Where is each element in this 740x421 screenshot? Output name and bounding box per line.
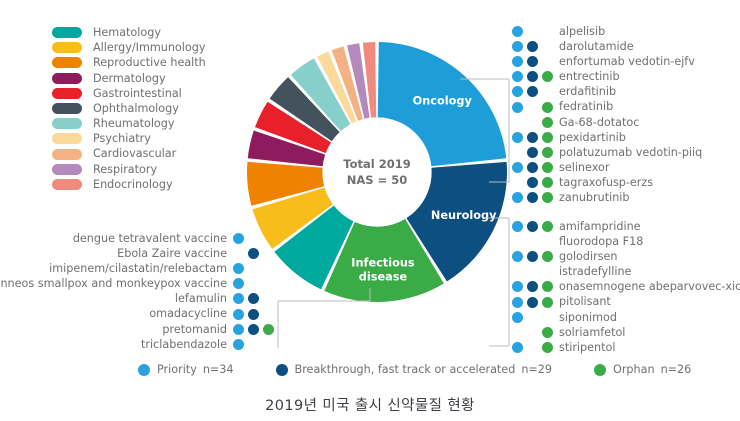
orphan-dot-icon bbox=[540, 145, 555, 160]
priority-dot-icon bbox=[510, 279, 525, 294]
orphan-dot-icon bbox=[540, 100, 555, 115]
drug-row[interactable]: alpelisib bbox=[510, 24, 702, 39]
empty-dot-slot bbox=[525, 100, 540, 115]
orphan-dot-icon bbox=[542, 132, 553, 143]
drug-row[interactable]: pitolisant bbox=[510, 294, 740, 309]
drug-row[interactable]: lefamulin bbox=[26, 291, 276, 306]
drug-row[interactable]: siponimod bbox=[510, 310, 740, 325]
drug-row[interactable]: onasemnogene abeparvovec-xioi bbox=[510, 279, 740, 294]
orphan-dot-icon bbox=[542, 147, 553, 158]
priority-dot-icon bbox=[510, 130, 525, 145]
drug-status-dots bbox=[510, 24, 555, 39]
oncology-drug-list: alpelisibdarolutamideenfortumab vedotin-… bbox=[510, 24, 702, 205]
drug-row[interactable]: pexidartinib bbox=[510, 130, 702, 145]
empty-dot-slot bbox=[510, 145, 525, 160]
priority-dot-icon bbox=[233, 278, 244, 289]
breakthrough-dot-icon bbox=[527, 297, 538, 308]
breakthrough-dot-icon bbox=[527, 192, 538, 203]
drug-status-dots bbox=[231, 307, 276, 322]
drug-name: Ebola Zaire vaccine bbox=[117, 248, 227, 259]
priority-dot-icon bbox=[512, 86, 523, 97]
drug-status-dots bbox=[510, 340, 555, 355]
drug-name: istradefylline bbox=[559, 266, 631, 277]
priority-dot-icon bbox=[233, 324, 244, 335]
priority-dot-icon bbox=[510, 84, 525, 99]
breakthrough-dot-icon bbox=[525, 175, 540, 190]
drug-status-dots bbox=[510, 130, 555, 145]
breakthrough-dot-icon bbox=[527, 41, 538, 52]
breakthrough-dot-icon bbox=[525, 84, 540, 99]
empty-dot-slot bbox=[510, 234, 525, 249]
priority-dot-icon bbox=[231, 322, 246, 337]
empty-dot-slot bbox=[261, 291, 276, 306]
empty-dot-slot bbox=[510, 175, 525, 190]
breakthrough-dot-icon bbox=[248, 293, 259, 304]
breakthrough-dot-icon bbox=[527, 56, 538, 67]
priority-dot-icon bbox=[233, 293, 244, 304]
drug-status-dots bbox=[231, 322, 276, 337]
orphan-dot-icon bbox=[542, 177, 553, 188]
empty-dot-slot bbox=[261, 337, 276, 352]
drug-row[interactable]: stiripentol bbox=[510, 340, 740, 355]
drug-status-dots bbox=[510, 279, 555, 294]
bracket-neurology bbox=[487, 218, 509, 346]
drug-row[interactable]: darolutamide bbox=[510, 39, 702, 54]
drug-name: stiripentol bbox=[559, 342, 615, 353]
priority-dot-icon bbox=[231, 231, 246, 246]
breakthrough-dot-icon bbox=[276, 364, 288, 376]
empty-dot-slot bbox=[540, 84, 555, 99]
priority-dot-icon bbox=[512, 312, 523, 323]
empty-dot-slot bbox=[525, 115, 540, 130]
breakthrough-dot-icon bbox=[527, 71, 538, 82]
breakthrough-count: n=29 bbox=[521, 364, 552, 375]
priority-dot-icon bbox=[510, 190, 525, 205]
priority-dot-icon bbox=[512, 162, 523, 173]
breakthrough-dot-icon bbox=[246, 307, 261, 322]
breakthrough-dot-icon bbox=[527, 281, 538, 292]
priority-dot-icon bbox=[510, 24, 525, 39]
empty-dot-slot bbox=[261, 246, 276, 261]
drug-name: amifampridine bbox=[559, 221, 641, 232]
drug-name: Jynneos smallpox and monkeypox vaccine bbox=[0, 278, 227, 289]
orphan-dot-icon bbox=[540, 340, 555, 355]
breakthrough-dot-icon bbox=[248, 248, 259, 259]
drug-status-dots bbox=[510, 295, 555, 310]
bracket-oncology bbox=[460, 79, 509, 182]
drug-name: pexidartinib bbox=[559, 132, 626, 143]
drug-name: darolutamide bbox=[559, 41, 634, 52]
drug-row[interactable]: imipenem/cilastatin/relebactam bbox=[26, 261, 276, 276]
drug-row[interactable]: istradefylline bbox=[510, 264, 740, 279]
drug-name: golodirsen bbox=[559, 251, 618, 262]
drug-name: dengue tetravalent vaccine bbox=[73, 233, 227, 244]
priority-dot-icon bbox=[512, 221, 523, 232]
status-legend-breakthrough: Breakthrough, fast track or accelerated … bbox=[276, 364, 552, 376]
drug-row[interactable]: erdafitinib bbox=[510, 84, 702, 99]
drug-row[interactable]: triclabendazole bbox=[26, 337, 276, 352]
drug-row[interactable]: solriamfetol bbox=[510, 325, 740, 340]
empty-dot-slot bbox=[510, 325, 525, 340]
orphan-dot-icon bbox=[540, 130, 555, 145]
priority-dot-icon bbox=[512, 41, 523, 52]
priority-dot-icon bbox=[510, 340, 525, 355]
orphan-dot-icon bbox=[540, 190, 555, 205]
priority-dot-icon bbox=[233, 263, 244, 274]
priority-dot-icon bbox=[231, 276, 246, 291]
orphan-count: n=26 bbox=[661, 364, 692, 375]
empty-dot-slot bbox=[261, 276, 276, 291]
empty-dot-slot bbox=[540, 54, 555, 69]
empty-dot-slot bbox=[525, 325, 540, 340]
priority-dot-icon bbox=[510, 295, 525, 310]
drug-name: triclabendazole bbox=[141, 339, 227, 350]
breakthrough-dot-icon bbox=[248, 324, 259, 335]
breakthrough-dot-icon bbox=[525, 145, 540, 160]
breakthrough-dot-icon bbox=[246, 322, 261, 337]
orphan-dot-icon bbox=[542, 117, 553, 128]
orphan-dot-icon bbox=[540, 175, 555, 190]
drug-name: fedratinib bbox=[559, 101, 613, 112]
drug-row[interactable]: polatuzumab vedotin-piiq bbox=[510, 145, 702, 160]
drug-row[interactable]: fedratinib bbox=[510, 99, 702, 114]
breakthrough-dot-icon bbox=[525, 69, 540, 84]
orphan-dot-icon bbox=[542, 162, 553, 173]
drug-status-dots bbox=[510, 325, 555, 340]
orphan-dot-icon bbox=[263, 324, 274, 335]
priority-dot-icon bbox=[512, 281, 523, 292]
empty-dot-slot bbox=[540, 24, 555, 39]
status-legend: Priority n=34 Breakthrough, fast track o… bbox=[138, 364, 691, 376]
drug-name: imipenem/cilastatin/relebactam bbox=[49, 263, 227, 274]
neurology-drug-list: amifampridinefluorodopa F18golodirsenist… bbox=[510, 219, 740, 355]
empty-dot-slot bbox=[246, 261, 261, 276]
breakthrough-dot-icon bbox=[527, 86, 538, 97]
breakthrough-label: Breakthrough, fast track or accelerated bbox=[295, 364, 516, 375]
drug-name: erdafitinib bbox=[559, 86, 616, 97]
breakthrough-dot-icon bbox=[525, 219, 540, 234]
empty-dot-slot bbox=[525, 24, 540, 39]
empty-dot-slot bbox=[540, 39, 555, 54]
orphan-dot-icon bbox=[542, 251, 553, 262]
empty-dot-slot bbox=[540, 234, 555, 249]
breakthrough-dot-icon bbox=[525, 39, 540, 54]
orphan-dot-icon bbox=[540, 249, 555, 264]
drug-row[interactable]: zanubrutinib bbox=[510, 190, 702, 205]
drug-status-dots bbox=[231, 276, 276, 291]
drug-status-dots bbox=[231, 246, 276, 261]
breakthrough-dot-icon bbox=[527, 221, 538, 232]
drug-name: Ga-68-dotatoc bbox=[559, 117, 639, 128]
drug-status-dots bbox=[231, 261, 276, 276]
drug-name: polatuzumab vedotin-piiq bbox=[559, 147, 702, 158]
orphan-dot-icon bbox=[540, 69, 555, 84]
priority-dot-icon bbox=[512, 102, 523, 113]
breakthrough-dot-icon bbox=[246, 246, 261, 261]
breakthrough-dot-icon bbox=[525, 160, 540, 175]
breakthrough-dot-icon bbox=[248, 309, 259, 320]
status-legend-priority: Priority n=34 bbox=[138, 364, 234, 376]
orphan-dot-icon bbox=[540, 279, 555, 294]
drug-status-dots bbox=[510, 249, 555, 264]
orphan-dot-icon bbox=[542, 71, 553, 82]
drug-status-dots bbox=[231, 291, 276, 306]
empty-dot-slot bbox=[525, 310, 540, 325]
priority-dot-icon bbox=[510, 249, 525, 264]
drug-name: pitolisant bbox=[559, 296, 611, 307]
drug-row[interactable]: Ebola Zaire vaccine bbox=[26, 246, 276, 261]
orphan-dot-icon bbox=[542, 342, 553, 353]
priority-dot-icon bbox=[510, 160, 525, 175]
drug-row[interactable]: Ga-68-dotatoc bbox=[510, 115, 702, 130]
priority-dot-icon bbox=[512, 132, 523, 143]
orphan-dot-icon bbox=[542, 102, 553, 113]
breakthrough-dot-icon bbox=[525, 54, 540, 69]
drug-name: fluorodopa F18 bbox=[559, 236, 643, 247]
empty-dot-slot bbox=[261, 261, 276, 276]
empty-dot-slot bbox=[246, 276, 261, 291]
drug-name: onasemnogene abeparvovec-xioi bbox=[559, 281, 740, 292]
breakthrough-dot-icon bbox=[527, 132, 538, 143]
priority-dot-icon bbox=[231, 307, 246, 322]
empty-dot-slot bbox=[246, 337, 261, 352]
orphan-dot-icon bbox=[540, 325, 555, 340]
drug-status-dots bbox=[510, 54, 555, 69]
priority-dot-icon bbox=[231, 291, 246, 306]
drug-status-dots bbox=[510, 160, 555, 175]
priority-dot-icon bbox=[510, 69, 525, 84]
breakthrough-dot-icon bbox=[525, 249, 540, 264]
drug-status-dots bbox=[510, 190, 555, 205]
drug-row[interactable]: enfortumab vedotin-ejfv bbox=[510, 54, 702, 69]
empty-dot-slot bbox=[540, 264, 555, 279]
priority-dot-icon bbox=[512, 56, 523, 67]
drug-name: omadacycline bbox=[149, 308, 227, 319]
empty-dot-slot bbox=[246, 231, 261, 246]
breakthrough-dot-icon bbox=[525, 130, 540, 145]
empty-dot-slot bbox=[510, 264, 525, 279]
priority-dot-icon bbox=[510, 54, 525, 69]
empty-dot-slot bbox=[540, 310, 555, 325]
drug-name: enfortumab vedotin-ejfv bbox=[559, 56, 695, 67]
breakthrough-dot-icon bbox=[525, 190, 540, 205]
drug-name: lefamulin bbox=[175, 293, 227, 304]
bracket-infectious-disease bbox=[278, 288, 370, 348]
orphan-dot-icon bbox=[542, 281, 553, 292]
drug-row[interactable]: tagraxofusp-erzs bbox=[510, 175, 702, 190]
breakthrough-dot-icon bbox=[527, 251, 538, 262]
drug-status-dots bbox=[510, 100, 555, 115]
priority-dot-icon bbox=[512, 26, 523, 37]
drug-status-dots bbox=[510, 145, 555, 160]
empty-dot-slot bbox=[525, 234, 540, 249]
drug-status-dots bbox=[510, 219, 555, 234]
drug-name: solriamfetol bbox=[559, 327, 625, 338]
drug-status-dots bbox=[510, 69, 555, 84]
breakthrough-dot-icon bbox=[527, 162, 538, 173]
priority-dot-icon bbox=[231, 337, 246, 352]
drug-name: tagraxofusp-erzs bbox=[559, 177, 653, 188]
drug-row[interactable]: amifampridine bbox=[510, 219, 740, 234]
figure-caption: 2019년 미국 출시 신약물질 현황 bbox=[0, 394, 740, 415]
chart-canvas: HematologyAllergy/ImmunologyReproductive… bbox=[0, 0, 740, 421]
priority-dot-icon bbox=[231, 261, 246, 276]
orphan-dot-icon bbox=[540, 295, 555, 310]
drug-row[interactable]: Jynneos smallpox and monkeypox vaccine bbox=[26, 276, 276, 291]
drug-name: entrectinib bbox=[559, 71, 620, 82]
drug-name: alpelisib bbox=[559, 26, 605, 37]
priority-dot-icon bbox=[510, 39, 525, 54]
orphan-dot-icon bbox=[540, 115, 555, 130]
empty-dot-slot bbox=[231, 246, 246, 261]
drug-name: selinexor bbox=[559, 162, 609, 173]
drug-name: pretomanid bbox=[162, 324, 227, 335]
empty-dot-slot bbox=[525, 264, 540, 279]
orphan-dot-icon bbox=[540, 160, 555, 175]
infectious-disease-drug-list: dengue tetravalent vaccineEbola Zaire va… bbox=[26, 231, 276, 352]
drug-status-dots bbox=[510, 115, 555, 130]
drug-status-dots bbox=[231, 231, 276, 246]
breakthrough-dot-icon bbox=[525, 279, 540, 294]
drug-name: siponimod bbox=[559, 312, 617, 323]
drug-name: zanubrutinib bbox=[559, 192, 630, 203]
priority-dot-icon bbox=[138, 364, 150, 376]
drug-status-dots bbox=[231, 337, 276, 352]
priority-dot-icon bbox=[512, 192, 523, 203]
priority-dot-icon bbox=[510, 219, 525, 234]
orphan-label: Orphan bbox=[613, 364, 655, 375]
drug-row[interactable]: dengue tetravalent vaccine bbox=[26, 231, 276, 246]
priority-label: Priority bbox=[157, 364, 197, 375]
priority-dot-icon bbox=[233, 339, 244, 350]
priority-dot-icon bbox=[233, 233, 244, 244]
empty-dot-slot bbox=[261, 231, 276, 246]
breakthrough-dot-icon bbox=[527, 177, 538, 188]
orphan-dot-icon bbox=[540, 219, 555, 234]
drug-row[interactable]: entrectinib bbox=[510, 69, 702, 84]
orphan-dot-icon bbox=[261, 322, 276, 337]
orphan-dot-icon bbox=[542, 221, 553, 232]
breakthrough-dot-icon bbox=[246, 291, 261, 306]
drug-status-dots bbox=[510, 175, 555, 190]
priority-count: n=34 bbox=[203, 364, 234, 375]
priority-dot-icon bbox=[512, 342, 523, 353]
drug-status-dots bbox=[510, 264, 555, 279]
empty-dot-slot bbox=[510, 115, 525, 130]
drug-status-dots bbox=[510, 84, 555, 99]
breakthrough-dot-icon bbox=[525, 295, 540, 310]
empty-dot-slot bbox=[525, 340, 540, 355]
drug-status-dots bbox=[510, 310, 555, 325]
orphan-dot-icon bbox=[542, 192, 553, 203]
drug-row[interactable]: pretomanid bbox=[26, 322, 276, 337]
drug-row[interactable]: fluorodopa F18 bbox=[510, 234, 740, 249]
orphan-dot-icon bbox=[542, 297, 553, 308]
priority-dot-icon bbox=[512, 251, 523, 262]
status-legend-orphan: Orphan n=26 bbox=[594, 364, 691, 376]
drug-row[interactable]: selinexor bbox=[510, 160, 702, 175]
priority-dot-icon bbox=[510, 310, 525, 325]
breakthrough-dot-icon bbox=[527, 147, 538, 158]
orphan-dot-icon bbox=[542, 327, 553, 338]
drug-status-dots bbox=[510, 234, 555, 249]
orphan-dot-icon bbox=[594, 364, 606, 376]
priority-dot-icon bbox=[510, 100, 525, 115]
drug-row[interactable]: golodirsen bbox=[510, 249, 740, 264]
drug-row[interactable]: omadacycline bbox=[26, 306, 276, 321]
drug-status-dots bbox=[510, 39, 555, 54]
priority-dot-icon bbox=[233, 309, 244, 320]
empty-dot-slot bbox=[261, 307, 276, 322]
priority-dot-icon bbox=[512, 71, 523, 82]
priority-dot-icon bbox=[512, 297, 523, 308]
